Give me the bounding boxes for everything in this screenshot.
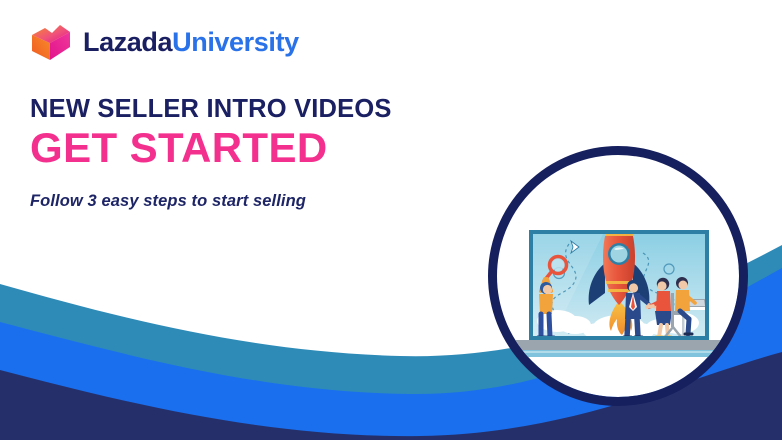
hero-headline: GET STARTED — [30, 127, 392, 170]
brand-logo[interactable]: LazadaUniversity — [30, 22, 299, 62]
lazada-university-banner: LazadaUniversity NEW SELLER INTRO VIDEOS… — [0, 0, 782, 440]
brand-name-primary: Lazada — [83, 27, 172, 57]
hero-subhead: Follow 3 easy steps to start selling — [30, 192, 392, 211]
lazada-box-logo-icon — [30, 22, 72, 62]
brand-logo-text: LazadaUniversity — [83, 29, 299, 56]
hero-eyebrow: NEW SELLER INTRO VIDEOS — [30, 96, 392, 123]
laptop-base — [515, 340, 723, 350]
rocket-launch-laptop-illustration — [483, 141, 753, 411]
hero-copy-block: NEW SELLER INTRO VIDEOS GET STARTED Foll… — [30, 96, 392, 211]
brand-name-secondary: University — [172, 27, 299, 57]
